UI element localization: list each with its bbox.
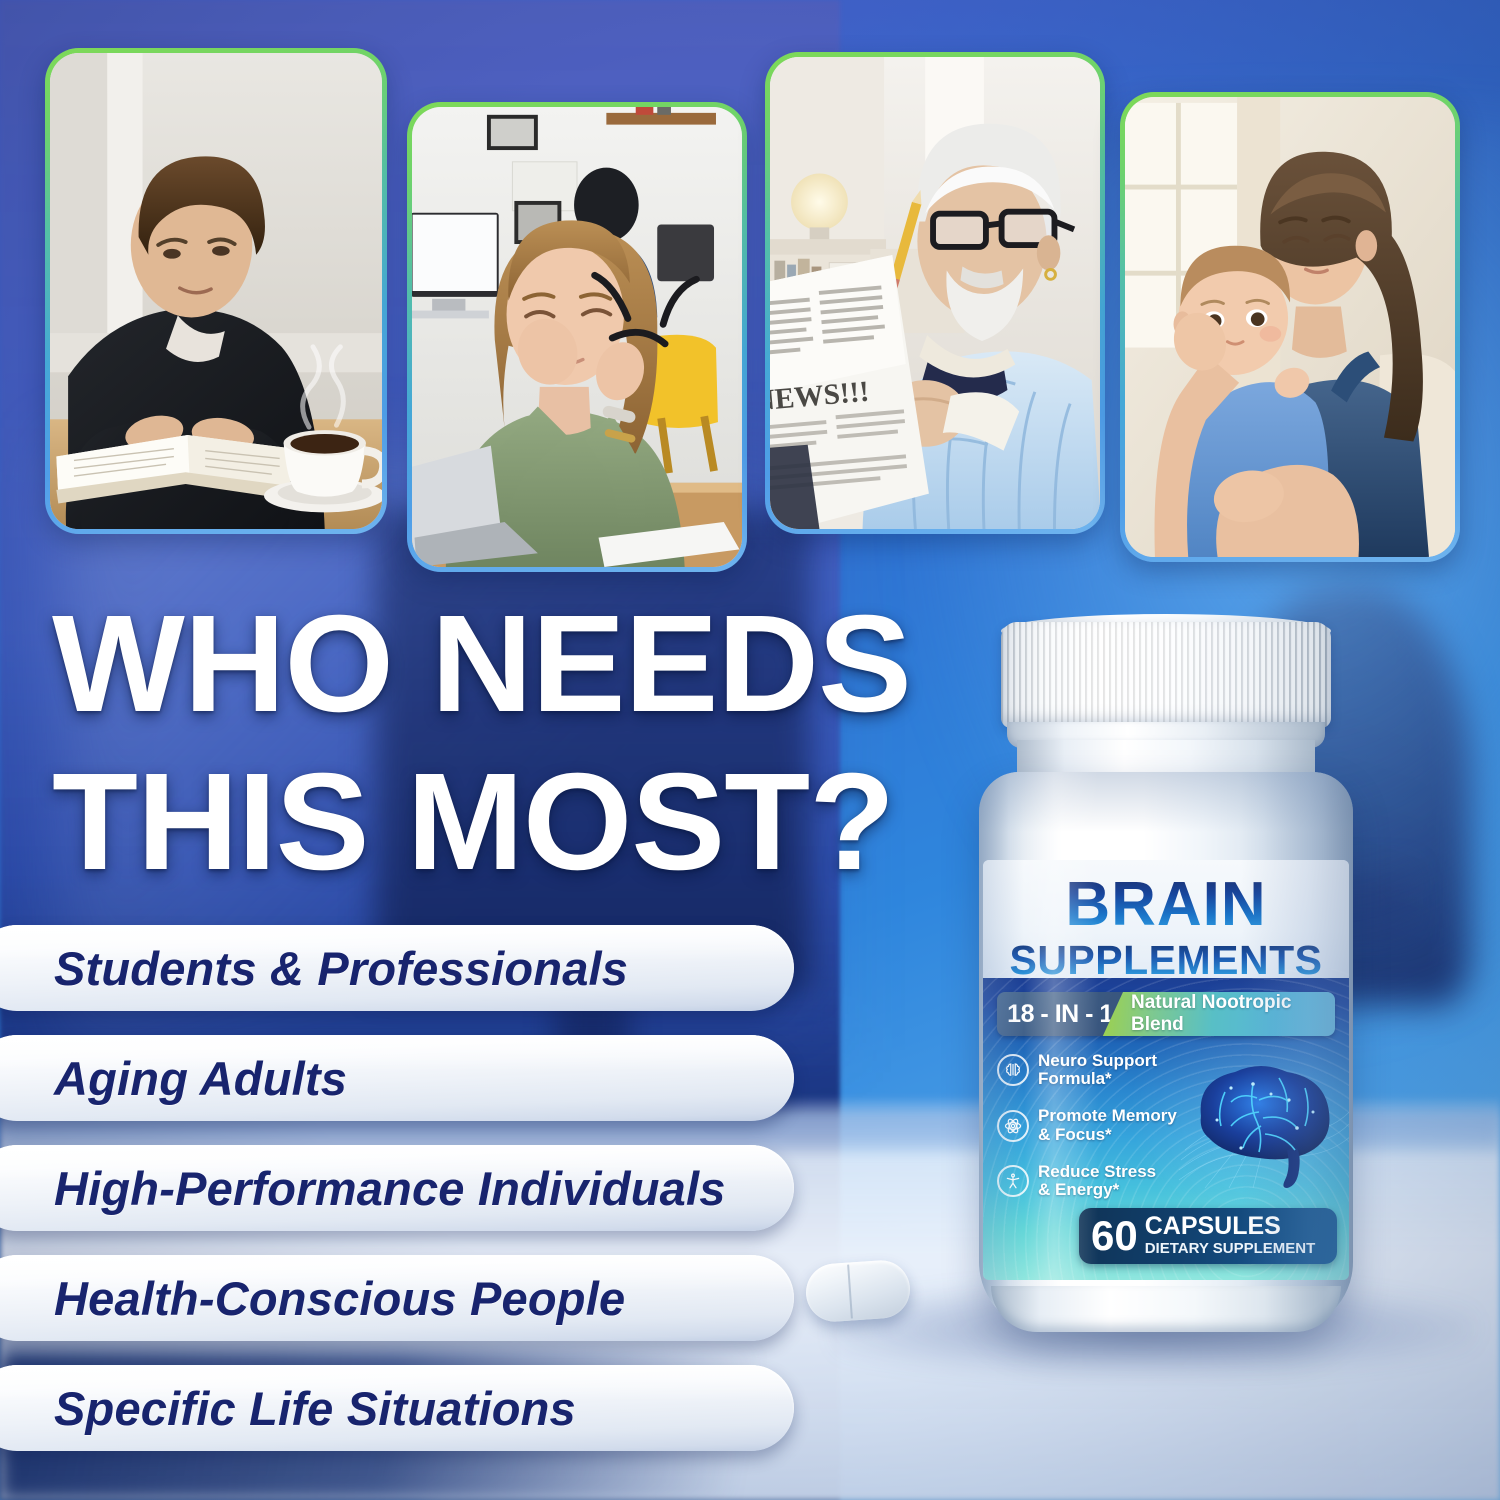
feature-line-1: Neuro Support (1038, 1051, 1157, 1070)
list-item[interactable]: Aging Adults (0, 1035, 794, 1121)
loose-capsule (804, 1258, 912, 1323)
badge-blend-label: Natural Nootropic Blend (1101, 992, 1335, 1036)
headline-line-1: WHO NEEDS (52, 598, 858, 732)
product-bottle: BRAIN SUPPLEMENTS 18 - IN - 1 Natural No… (955, 600, 1375, 1360)
product-label: BRAIN SUPPLEMENTS 18 - IN - 1 Natural No… (983, 860, 1349, 1280)
energy-person-icon (997, 1165, 1029, 1197)
photo-tired-woman-at-laptop (412, 107, 742, 567)
list-item[interactable]: Specific Life Situations (0, 1365, 794, 1451)
photo-tile-mother-baby (1120, 92, 1460, 562)
list-item-label: Aging Adults (54, 1051, 347, 1106)
feature-item-label: Promote Memory & Focus* (1038, 1107, 1177, 1143)
brand-block: BRAIN SUPPLEMENTS (983, 874, 1349, 981)
list-item[interactable]: Students & Professionals (0, 925, 794, 1011)
feature-item-label: Neuro Support Formula* (1038, 1052, 1157, 1088)
audience-list: Students & Professionals Aging Adults Hi… (0, 925, 794, 1475)
capsule-count-badge: 60 CAPSULES DIETARY SUPPLEMENT (1079, 1208, 1337, 1264)
photo-tile-student-reading (45, 48, 387, 534)
formula-badge: 18 - IN - 1 Natural Nootropic Blend (997, 992, 1335, 1036)
bottle-cap (1001, 622, 1331, 728)
photo-tile-tired-woman (407, 102, 747, 572)
headline-line-2: THIS MOST? (52, 756, 858, 890)
list-item-label: Specific Life Situations (54, 1381, 576, 1436)
feature-item-stress-energy: Reduce Stress & Energy* (997, 1163, 1212, 1199)
brand-name-primary: BRAIN (983, 874, 1349, 936)
feature-list: Neuro Support Formula* Promo (997, 1052, 1212, 1218)
page-title: WHO NEEDS THIS MOST? (52, 598, 842, 890)
capsule-seam (847, 1265, 853, 1318)
feature-line-2: & Focus* (1038, 1125, 1112, 1144)
dietary-supplement-label: DIETARY SUPPLEMENT (1145, 1241, 1316, 1258)
feature-item-memory-focus: Promote Memory & Focus* (997, 1107, 1212, 1143)
feature-line-2: & Energy* (1038, 1180, 1119, 1199)
atom-icon (997, 1110, 1029, 1142)
list-item-label: High-Performance Individuals (54, 1161, 726, 1216)
feature-line-1: Reduce Stress (1038, 1162, 1156, 1181)
photo-senior-man-reading-newspaper: NEWS!!! (770, 57, 1100, 529)
list-item[interactable]: Health-Conscious People (0, 1255, 794, 1341)
photo-mother-holding-baby (1125, 97, 1455, 557)
feature-line-1: Promote Memory (1038, 1106, 1177, 1125)
feature-item-neuro-support: Neuro Support Formula* (997, 1052, 1212, 1088)
brain-icon (997, 1054, 1029, 1086)
list-item-label: Students & Professionals (54, 941, 628, 996)
capsule-count-word: CAPSULES (1145, 1214, 1316, 1239)
bottle-graphic: BRAIN SUPPLEMENTS 18 - IN - 1 Natural No… (955, 600, 1375, 1340)
feature-item-label: Reduce Stress & Energy* (1038, 1163, 1156, 1199)
brand-name-secondary: SUPPLEMENTS (983, 940, 1349, 981)
photo-tile-senior-reading: NEWS!!! (765, 52, 1105, 534)
feature-line-2: Formula* (1038, 1069, 1112, 1088)
capsule-count-text: CAPSULES DIETARY SUPPLEMENT (1145, 1214, 1316, 1258)
list-item[interactable]: High-Performance Individuals (0, 1145, 794, 1231)
bottle-base (991, 1286, 1341, 1332)
capsule-count-number: 60 (1091, 1215, 1138, 1257)
list-item-label: Health-Conscious People (54, 1271, 625, 1326)
bottle-body-shading (979, 772, 1353, 832)
photo-student-reading-with-coffee (50, 53, 382, 529)
badge-count-label: 18 - IN - 1 (997, 992, 1123, 1036)
